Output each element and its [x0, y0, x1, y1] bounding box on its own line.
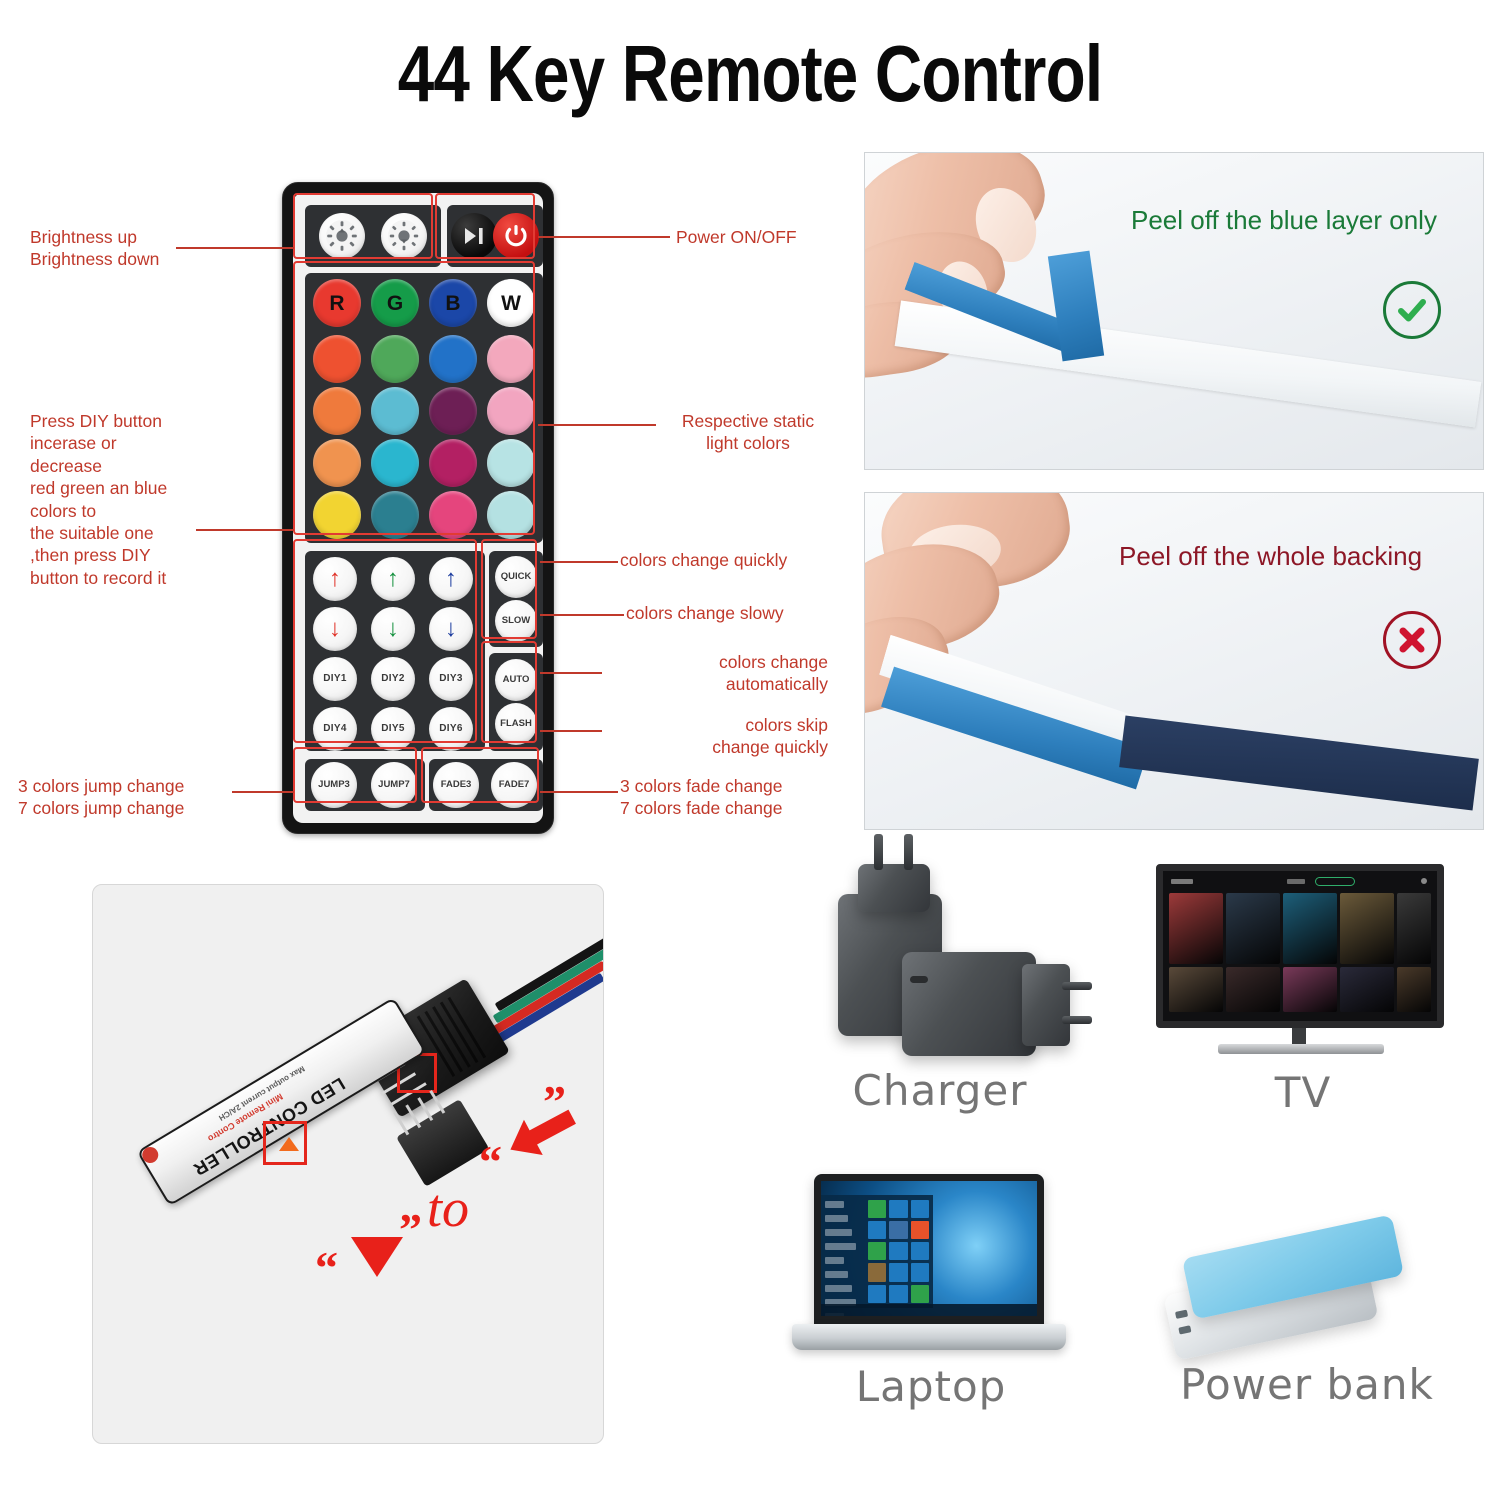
peel-top-caption: Peel off the blue layer only — [1131, 205, 1437, 236]
cross-mark-icon — [1383, 611, 1441, 669]
start-menu-tile — [911, 1200, 930, 1218]
start-menu-tile — [911, 1242, 930, 1260]
check-mark-icon — [1383, 281, 1441, 339]
callout-static-colors: Respective static light colors — [658, 410, 838, 455]
start-menu-tile — [868, 1200, 887, 1218]
leader-line-auto — [540, 672, 602, 674]
color-button-r1c1[interactable] — [313, 335, 361, 383]
laptop-lid — [814, 1174, 1044, 1326]
start-menu-tile — [889, 1242, 908, 1260]
led-controller-body: LED CONTROLLER Mini Remote Contro Max ou… — [137, 997, 427, 1206]
charger-prong-3 — [1062, 982, 1092, 990]
start-menu-item — [825, 1201, 844, 1208]
tv-app-header — [1169, 875, 1431, 889]
device-label-tv: TV — [1148, 1068, 1458, 1117]
tv-poster-grid — [1169, 893, 1431, 1015]
rgbw-label-g: G — [387, 293, 403, 314]
color-button-r4c3[interactable] — [429, 491, 477, 539]
diy1-button[interactable]: DIY1 — [313, 657, 357, 701]
start-menu-tile — [868, 1242, 887, 1260]
speed-buttons-panel: QUICK SLOW — [489, 551, 543, 647]
start-menu-item — [825, 1229, 852, 1236]
diy5-button[interactable]: DIY5 — [371, 707, 415, 751]
device-power-bank: Power bank — [1142, 1178, 1472, 1428]
start-menu-item — [825, 1243, 856, 1250]
tv-poster — [1169, 893, 1223, 964]
quick-label: QUICK — [501, 572, 532, 582]
color-button-r2c1[interactable] — [313, 387, 361, 435]
color-button-r1c3[interactable] — [429, 335, 477, 383]
green-down-arrow-button[interactable]: ↓ — [371, 607, 415, 651]
start-menu-item — [825, 1215, 848, 1222]
start-menu-tile — [911, 1285, 930, 1303]
diy6-label: DIY6 — [439, 724, 462, 734]
diy4-label: DIY4 — [323, 724, 346, 734]
peel-whole-backing-photo: Peel off the whole backing — [864, 492, 1484, 830]
color-buttons-panel: R G B W — [305, 273, 543, 543]
red-down-arrow: ↓ — [329, 617, 341, 641]
callout-flash: colors skip change quickly — [600, 714, 828, 759]
start-menu-item — [825, 1271, 848, 1278]
brand-logo-icon — [139, 1144, 161, 1166]
leader-line-fade — [540, 791, 618, 793]
color-button-r3c3[interactable] — [429, 439, 477, 487]
start-menu-tile — [889, 1263, 908, 1281]
fade-buttons-panel: FADE3 FADE7 — [429, 759, 543, 811]
color-button-r3c4[interactable] — [487, 439, 535, 487]
open-quote-2: “ — [479, 1135, 502, 1188]
start-menu-item — [825, 1285, 852, 1292]
diy4-button[interactable]: DIY4 — [313, 707, 357, 751]
red-triangle-icon — [351, 1237, 403, 1277]
close-quote-2: ” — [543, 1075, 566, 1128]
laptop-base — [792, 1324, 1066, 1350]
start-menu-tile — [889, 1221, 908, 1239]
to-word: to — [427, 1177, 469, 1239]
callout-auto: colors change automatically — [600, 651, 828, 696]
leader-line-quick — [540, 561, 618, 563]
rgbw-button-r[interactable]: R — [313, 279, 361, 327]
tv-poster — [1283, 893, 1337, 964]
remote-body: R G B W ↑↑↑↓↓↓ DIY1DIY2DIY3DIY4DIY5DIY6 … — [282, 182, 554, 834]
callout-quick: colors change quickly — [620, 549, 787, 571]
device-laptop: Laptop — [778, 1166, 1084, 1426]
color-button-r2c2[interactable] — [371, 387, 419, 435]
rgbw-button-b[interactable]: B — [429, 279, 477, 327]
brightness-panel — [305, 205, 441, 267]
green-down-arrow: ↓ — [387, 617, 399, 641]
diy2-label: DIY2 — [381, 674, 404, 684]
leader-line-static — [538, 424, 656, 426]
rgbw-label-b: B — [445, 293, 460, 314]
controller-connection-photo: LED CONTROLLER Mini Remote Contro Max ou… — [92, 884, 604, 1444]
fade7-button[interactable]: FADE7 — [491, 762, 537, 808]
page-title: 44 Key Remote Control — [135, 28, 1365, 120]
flash-label: FLASH — [500, 719, 532, 729]
mode-buttons-panel: AUTO FLASH — [489, 653, 543, 751]
device-label-charger: Charger — [790, 1066, 1090, 1115]
diy1-label: DIY1 — [323, 674, 346, 684]
diy3-label: DIY3 — [439, 674, 462, 684]
callout-power: Power ON/OFF — [676, 226, 797, 248]
remote-faceplate: R G B W ↑↑↑↓↓↓ DIY1DIY2DIY3DIY4DIY5DIY6 … — [293, 193, 543, 823]
rgbw-button-w[interactable]: W — [487, 279, 535, 327]
device-tv: TV — [1148, 856, 1458, 1136]
jump7-button[interactable]: JUMP7 — [371, 762, 417, 808]
leader-line-diy — [196, 529, 294, 531]
leader-line-jump — [232, 791, 294, 793]
usb-c-port-icon — [910, 976, 928, 983]
color-button-r4c4[interactable] — [487, 491, 535, 539]
start-menu-tile — [911, 1221, 930, 1239]
color-button-r1c4[interactable] — [487, 335, 535, 383]
windows-taskbar — [821, 1304, 1037, 1316]
tv-poster — [1397, 893, 1431, 964]
start-menu-tiles — [864, 1195, 934, 1308]
start-menu-tile — [868, 1285, 887, 1303]
charger-brick-front — [902, 952, 1036, 1056]
start-menu-tile — [889, 1200, 908, 1218]
red-up-arrow-button[interactable]: ↑ — [313, 557, 357, 601]
led-strip-bottom — [1119, 716, 1479, 811]
fade3-label: FADE3 — [441, 780, 472, 790]
charger-neck-back — [858, 864, 930, 912]
tv-poster — [1283, 967, 1337, 1013]
red-arrow-left-icon — [495, 1092, 590, 1177]
red-up-arrow: ↑ — [329, 567, 341, 591]
diy3-button[interactable]: DIY3 — [429, 657, 473, 701]
start-menu-tile — [911, 1263, 930, 1281]
callout-slow: colors change slowy — [626, 602, 784, 624]
brightness-up-icon[interactable] — [319, 213, 365, 259]
fade7-label: FADE7 — [499, 780, 530, 790]
power-bank-port-1 — [1175, 1310, 1188, 1319]
peel-blue-layer-photo: Peel off the blue layer only — [864, 152, 1484, 470]
jump3-button[interactable]: JUMP3 — [311, 762, 357, 808]
tv-poster — [1169, 967, 1223, 1013]
callout-diy: Press DIY button incerase or decrease re… — [30, 410, 280, 589]
leader-line-power — [538, 236, 670, 238]
orange-arrow-icon — [279, 1137, 299, 1151]
leader-line-flash — [540, 730, 602, 732]
power-icon[interactable] — [493, 213, 539, 259]
start-menu-item — [825, 1257, 844, 1264]
blue-up-arrow-button[interactable]: ↑ — [429, 557, 473, 601]
open-quote-1: “ — [315, 1241, 338, 1294]
charger-prong-2 — [904, 834, 913, 870]
blue-down-arrow: ↓ — [445, 617, 457, 641]
charger-neck-front — [1022, 964, 1070, 1046]
tv-poster — [1226, 893, 1280, 964]
rgbw-label-w: W — [501, 293, 521, 314]
color-button-r3c1[interactable] — [313, 439, 361, 487]
green-up-arrow: ↑ — [387, 567, 399, 591]
start-menu-tile — [868, 1263, 887, 1281]
remote-control-illustration: R G B W ↑↑↑↓↓↓ DIY1DIY2DIY3DIY4DIY5DIY6 … — [282, 182, 554, 834]
color-button-r2c4[interactable] — [487, 387, 535, 435]
green-up-arrow-button[interactable]: ↑ — [371, 557, 415, 601]
diy5-label: DIY5 — [381, 724, 404, 734]
tv-screen — [1156, 864, 1444, 1028]
callout-jump: 3 colors jump change 7 colors jump chang… — [18, 775, 268, 820]
callout-fade: 3 colors fade change 7 colors fade chang… — [620, 775, 782, 820]
rgbw-label-r: R — [329, 293, 344, 314]
start-menu-tile — [889, 1285, 908, 1303]
diy6-button[interactable]: DIY6 — [429, 707, 473, 751]
flash-button[interactable]: FLASH — [495, 703, 537, 745]
start-menu-tile — [868, 1221, 887, 1239]
device-charger: Charger — [790, 836, 1090, 1136]
laptop-screen — [821, 1181, 1037, 1316]
leader-line-brightness — [176, 247, 294, 249]
charger-prong-1 — [874, 834, 883, 870]
controller-socket — [396, 1099, 489, 1187]
play-pause-icon[interactable] — [451, 213, 497, 259]
windows-start-menu — [821, 1195, 933, 1308]
tv-stand — [1218, 1044, 1384, 1054]
color-button-r4c2[interactable] — [371, 491, 419, 539]
auto-label: AUTO — [503, 675, 530, 685]
tv-poster — [1397, 967, 1431, 1013]
tv-poster — [1226, 967, 1280, 1013]
diy2-button[interactable]: DIY2 — [371, 657, 415, 701]
rgbw-button-g[interactable]: G — [371, 279, 419, 327]
jump-buttons-panel: JUMP3 JUMP7 — [305, 759, 425, 811]
charger-prong-4 — [1062, 1016, 1092, 1024]
leader-line-slow — [540, 614, 624, 616]
auto-button[interactable]: AUTO — [495, 659, 537, 701]
blue-down-arrow-button[interactable]: ↓ — [429, 607, 473, 651]
jump7-label: JUMP7 — [378, 780, 410, 790]
slow-button[interactable]: SLOW — [495, 600, 537, 642]
close-quote-1: ” — [399, 1203, 422, 1256]
color-button-r1c2[interactable] — [371, 335, 419, 383]
function-buttons-panel: ↑↑↑↓↓↓ DIY1DIY2DIY3DIY4DIY5DIY6 — [305, 551, 485, 751]
power-panel — [447, 205, 543, 267]
brightness-down-icon[interactable] — [381, 213, 427, 259]
color-button-r3c2[interactable] — [371, 439, 419, 487]
color-button-r4c1[interactable] — [313, 491, 361, 539]
power-bank-port-2 — [1178, 1325, 1191, 1334]
device-label-laptop: Laptop — [778, 1362, 1084, 1411]
quick-button[interactable]: QUICK — [495, 556, 537, 598]
color-button-r2c3[interactable] — [429, 387, 477, 435]
blue-up-arrow: ↑ — [445, 567, 457, 591]
device-label-power-bank: Power bank — [1142, 1360, 1472, 1409]
start-menu-list — [821, 1195, 864, 1308]
jump3-label: JUMP3 — [318, 780, 350, 790]
tv-poster — [1340, 893, 1394, 964]
fade3-button[interactable]: FADE3 — [433, 762, 479, 808]
tv-poster — [1340, 967, 1394, 1013]
red-down-arrow-button[interactable]: ↓ — [313, 607, 357, 651]
peel-bottom-caption: Peel off the whole backing — [1119, 541, 1422, 572]
slow-label: SLOW — [502, 616, 531, 626]
